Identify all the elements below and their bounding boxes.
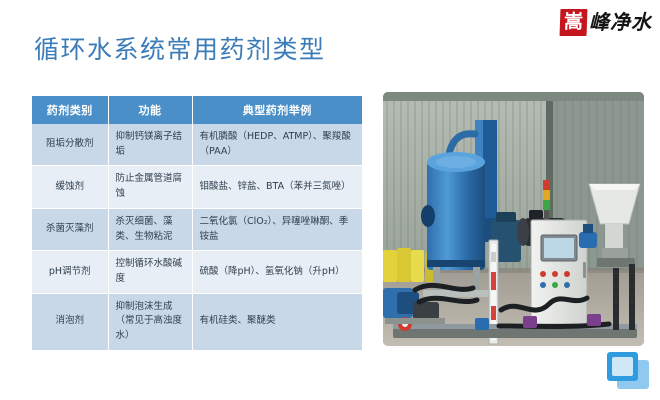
cell-function: 杀灭细菌、藻类、生物粘泥 <box>108 208 192 250</box>
cell-examples: 钼酸盐、锌盐、BTA（苯并三氮唑） <box>192 166 362 208</box>
table-row: 消泡剂 抑制泡沫生成（常见于高浊度水） 有机硅类、聚醚类 <box>32 293 362 350</box>
decorative-square-front <box>607 352 638 381</box>
cell-category: 杀菌灭藻剂 <box>32 208 108 250</box>
cell-category: 消泡剂 <box>32 293 108 350</box>
table-row: 杀菌灭藻剂 杀灭细菌、藻类、生物粘泥 二氧化氯（ClO₂）、异噻唑啉酮、季铵盐 <box>32 208 362 250</box>
seal-icon: 嵩 <box>560 9 588 36</box>
table-row: pH调节剂 控制循环水酸碱度 硫酸（降pH）、氢氧化钠（升pH） <box>32 251 362 293</box>
table-header-row: 药剂类别 功能 典型药剂举例 <box>32 96 362 124</box>
equipment-photo-illustration <box>383 92 644 346</box>
brand-name: 峰净水 <box>589 9 652 36</box>
column-header-examples: 典型药剂举例 <box>192 96 362 124</box>
page-title: 循环水系统常用药剂类型 <box>34 30 326 66</box>
cell-examples: 二氧化氯（ClO₂）、异噻唑啉酮、季铵盐 <box>192 208 362 250</box>
table-row: 阻垢分散剂 抑制钙镁离子结垢 有机膦酸（HEDP、ATMP）、聚羧酸（PAA） <box>32 124 362 166</box>
equipment-photo <box>383 92 644 346</box>
cell-function: 控制循环水酸碱度 <box>108 251 192 293</box>
chemical-type-table: 药剂类别 功能 典型药剂举例 阻垢分散剂 抑制钙镁离子结垢 有机膦酸（HEDP、… <box>32 96 362 351</box>
cell-category: pH调节剂 <box>32 251 108 293</box>
cell-examples: 有机硅类、聚醚类 <box>192 293 362 350</box>
cell-function: 抑制泡沫生成（常见于高浊度水） <box>108 293 192 350</box>
table-row: 缓蚀剂 防止金属管道腐蚀 钼酸盐、锌盐、BTA（苯并三氮唑） <box>32 166 362 208</box>
signal-tower-light <box>543 180 550 222</box>
slide-canvas: 嵩 峰净水 循环水系统常用药剂类型 药剂类别 功能 典型药剂举例 阻垢分散剂 抑… <box>0 0 660 400</box>
decorative-squares <box>607 352 651 392</box>
cell-function: 抑制钙镁离子结垢 <box>108 124 192 166</box>
cell-function: 防止金属管道腐蚀 <box>108 166 192 208</box>
cell-category: 缓蚀剂 <box>32 166 108 208</box>
column-header-function: 功能 <box>108 96 192 124</box>
cell-examples: 有机膦酸（HEDP、ATMP）、聚羧酸（PAA） <box>192 124 362 166</box>
cell-examples: 硫酸（降pH）、氢氧化钠（升pH） <box>192 251 362 293</box>
cell-category: 阻垢分散剂 <box>32 124 108 166</box>
column-header-category: 药剂类别 <box>32 96 108 124</box>
decorative-square-inner <box>612 357 633 376</box>
company-logo: 嵩 峰净水 <box>560 6 652 38</box>
